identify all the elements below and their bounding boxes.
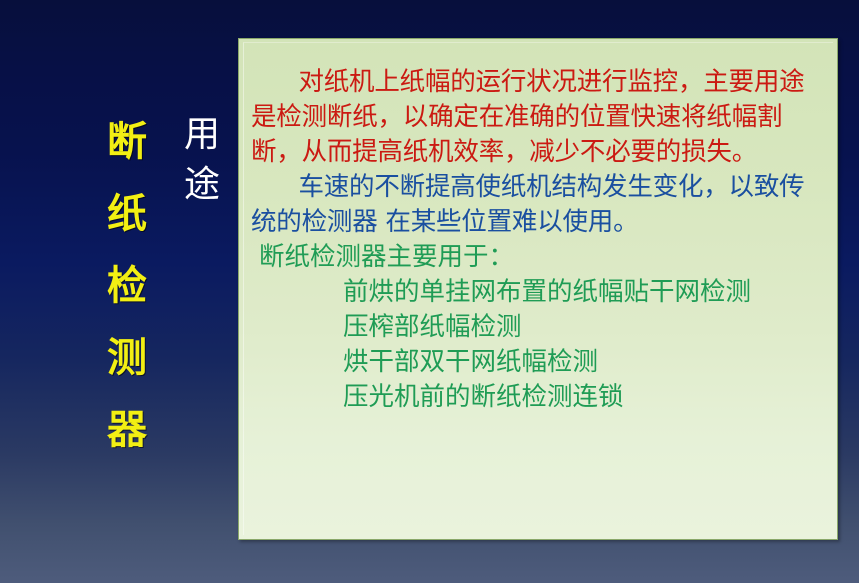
vertical-title-char-1: 断 — [98, 106, 156, 178]
list-item: 烘干部双干网纸幅检测 — [343, 345, 829, 380]
red-paragraph: 对纸机上纸幅的运行状况进行监控，主要用途是检测断纸，以确定在准确的位置快速将纸幅… — [251, 65, 829, 170]
green-usage-list: 前烘的单挂网布置的纸幅贴干网检测 压榨部纸幅检测 烘干部双干网纸幅检测 压光机前… — [251, 275, 829, 415]
list-item: 压光机前的断纸检测连锁 — [343, 380, 829, 415]
content-panel-body: 对纸机上纸幅的运行状况进行监控，主要用途是检测断纸，以确定在准确的位置快速将纸幅… — [239, 39, 837, 415]
vertical-slide-title: 断 纸 检 测 器 — [98, 106, 156, 466]
vertical-title-char-4: 测 — [98, 322, 156, 394]
green-list-heading: 断纸检测器主要用于： — [251, 240, 829, 275]
content-panel: 对纸机上纸幅的运行状况进行监控，主要用途是检测断纸，以确定在准确的位置快速将纸幅… — [238, 38, 838, 540]
blue-paragraph: 车速的不断提高使纸机结构发生变化，以致传统的检测器 在某些位置难以使用。 — [251, 170, 829, 240]
presentation-slide: 断 纸 检 测 器 用 途 对纸机上纸幅的运行状况进行监控，主要用途是检测断纸，… — [0, 0, 859, 583]
vertical-title-char-2: 纸 — [98, 178, 156, 250]
vertical-title-char-5: 器 — [98, 394, 156, 466]
vertical-title-char-3: 检 — [98, 250, 156, 322]
vertical-subtitle-char-2: 途 — [176, 160, 228, 210]
list-item: 前烘的单挂网布置的纸幅贴干网检测 — [343, 275, 829, 310]
vertical-subtitle-char-1: 用 — [176, 110, 228, 160]
vertical-slide-subtitle: 用 途 — [176, 110, 228, 210]
list-item: 压榨部纸幅检测 — [343, 310, 829, 345]
